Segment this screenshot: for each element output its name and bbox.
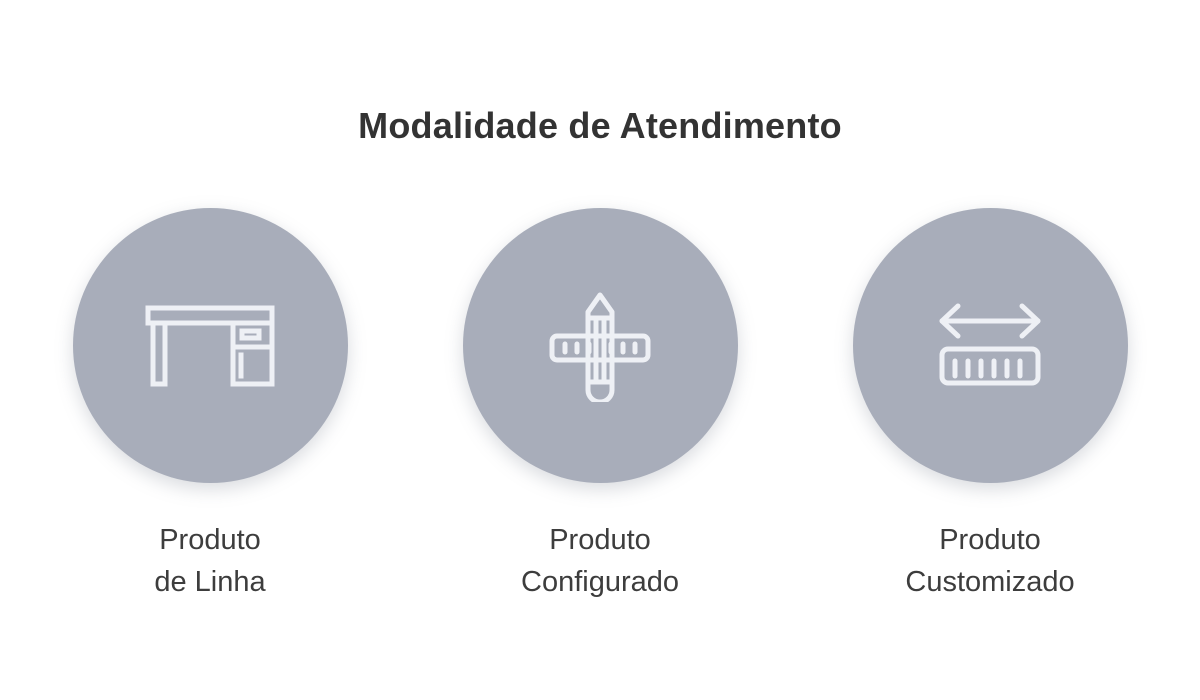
- card-label-2: Produto Configurado: [521, 519, 679, 603]
- icon-circle-3[interactable]: [853, 208, 1128, 483]
- slide-canvas: Modalidade de Atendimento: [0, 0, 1200, 700]
- card-produto-de-linha[interactable]: Produto de Linha: [73, 208, 348, 603]
- card-row: Produto de Linha: [0, 208, 1200, 603]
- desk-icon: [145, 305, 275, 387]
- card-produto-customizado[interactable]: Produto Customizado: [853, 208, 1128, 603]
- icon-circle-1[interactable]: [73, 208, 348, 483]
- card-produto-configurado[interactable]: Produto Configurado: [463, 208, 738, 603]
- card-label-3: Produto Customizado: [905, 519, 1074, 603]
- card-label-1: Produto de Linha: [154, 519, 265, 603]
- icon-circle-2[interactable]: [463, 208, 738, 483]
- page-title: Modalidade de Atendimento: [0, 105, 1200, 147]
- measure-arrow-ruler-icon: [934, 301, 1046, 391]
- pencil-ruler-icon: [548, 290, 652, 402]
